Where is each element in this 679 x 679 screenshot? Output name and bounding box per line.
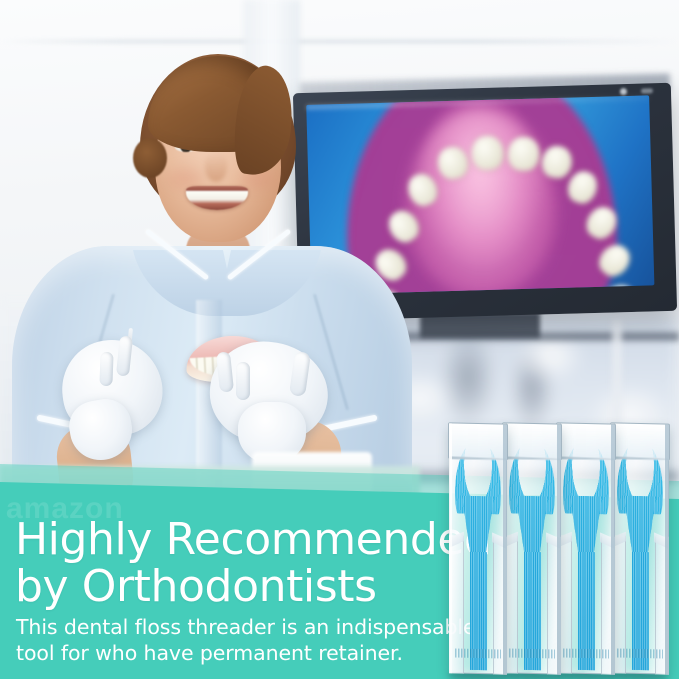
floss-taper bbox=[462, 496, 494, 559]
monitor-indicator-icon bbox=[620, 88, 627, 95]
subheadline: This dental floss threader is an indispe… bbox=[16, 614, 486, 666]
floss-taper bbox=[516, 496, 548, 559]
floss-taper bbox=[624, 496, 656, 559]
floss-threader-pack bbox=[611, 423, 669, 674]
case-edge-highlight bbox=[449, 423, 452, 673]
monitor-sensor-icon bbox=[641, 88, 653, 93]
product-floss-threader-packs bbox=[449, 424, 679, 676]
floss-threader-pack bbox=[449, 423, 507, 674]
floss-threader-pack bbox=[503, 423, 561, 674]
pack-cap bbox=[448, 422, 508, 459]
pack-cap bbox=[556, 422, 616, 459]
hair-bun bbox=[133, 138, 167, 178]
product-marketing-image: amazon Highly Recommended by Orthodontis… bbox=[0, 0, 679, 679]
pack-cap bbox=[502, 422, 562, 459]
floss-threader-pack bbox=[557, 423, 615, 674]
subheadline-line-2: tool for who have permanent retainer. bbox=[16, 640, 486, 666]
case-edge-shadow bbox=[557, 425, 561, 675]
case-edge-shadow bbox=[503, 425, 507, 675]
case-edge-shadow bbox=[665, 425, 669, 675]
pack-label bbox=[617, 648, 663, 658]
nose bbox=[205, 152, 227, 182]
subheadline-line-1: This dental floss threader is an indispe… bbox=[16, 615, 476, 639]
case-edge-shadow bbox=[611, 425, 615, 675]
finger-middle-right bbox=[236, 362, 250, 400]
headline-line-1: Highly Recommended bbox=[15, 514, 492, 565]
dental-hygienist bbox=[0, 0, 420, 520]
pack-label bbox=[455, 648, 501, 658]
pack-label bbox=[509, 648, 555, 658]
finger-middle-left bbox=[99, 352, 113, 386]
floss-taper bbox=[570, 496, 602, 559]
pack-cap bbox=[610, 422, 670, 459]
tooth bbox=[507, 136, 540, 171]
pack-label bbox=[563, 648, 609, 658]
